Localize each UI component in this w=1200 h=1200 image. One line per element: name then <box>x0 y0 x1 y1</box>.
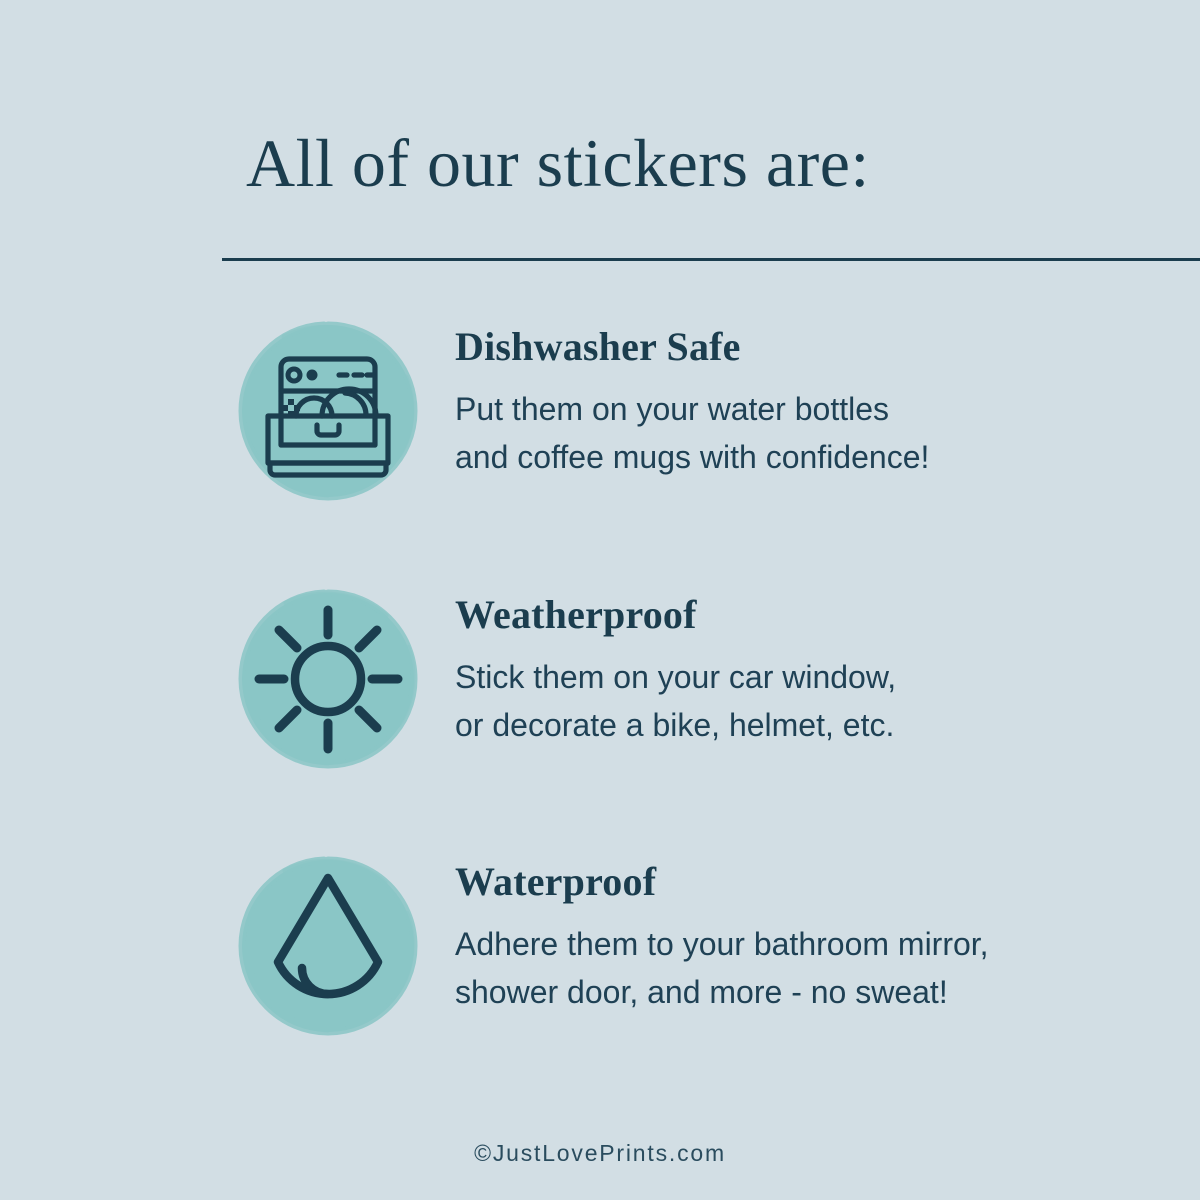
page-title: All of our stickers are: <box>246 128 870 199</box>
sun-icon <box>232 583 424 775</box>
feature-row-dishwasher: Dishwasher Safe Put them on your water b… <box>0 310 1200 510</box>
feature-body: Put them on your water bottles and coffe… <box>455 367 1155 481</box>
feature-heading: Dishwasher Safe <box>455 310 1155 367</box>
feature-body: Stick them on your car window, or decora… <box>455 635 1155 749</box>
feature-text-waterproof: Waterproof Adhere them to your bathroom … <box>455 845 1155 1016</box>
dishwasher-icon-badge <box>232 315 424 507</box>
feature-heading: Waterproof <box>455 845 1155 902</box>
title-divider <box>222 258 1200 261</box>
footer-credit: ©JustLovePrints.com <box>0 1140 1200 1167</box>
water-drop-icon <box>232 850 424 1042</box>
feature-row-weatherproof: Weatherproof Stick them on your car wind… <box>0 578 1200 778</box>
feature-heading: Weatherproof <box>455 578 1155 635</box>
feature-body: Adhere them to your bathroom mirror, sho… <box>455 902 1155 1016</box>
feature-text-weatherproof: Weatherproof Stick them on your car wind… <box>455 578 1155 749</box>
feature-text-dishwasher: Dishwasher Safe Put them on your water b… <box>455 310 1155 481</box>
sun-icon-badge <box>232 583 424 775</box>
water-drop-icon-badge <box>232 850 424 1042</box>
dishwasher-icon <box>232 315 424 507</box>
feature-row-waterproof: Waterproof Adhere them to your bathroom … <box>0 845 1200 1045</box>
poster-canvas: All of our stickers are: <box>0 0 1200 1200</box>
